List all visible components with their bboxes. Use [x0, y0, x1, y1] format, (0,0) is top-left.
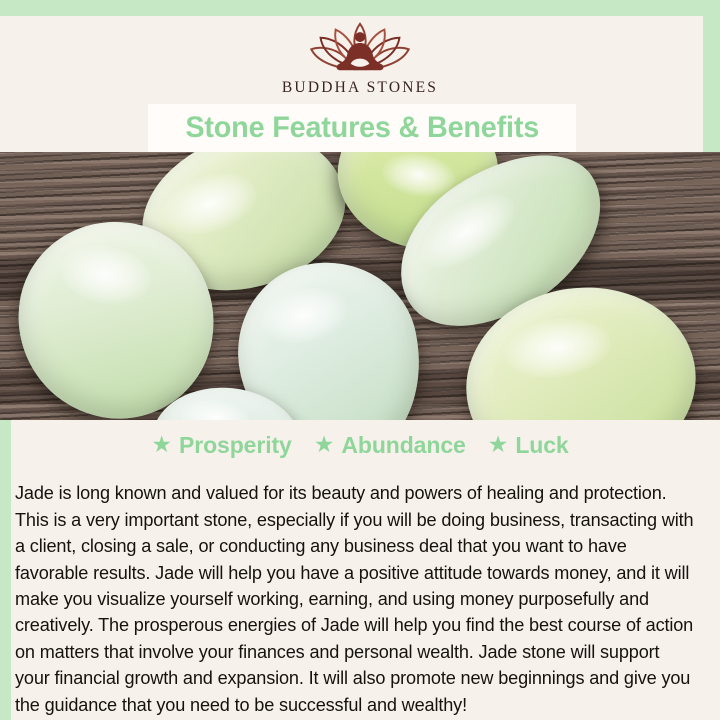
benefits-row: ★ Prosperity ★ Abundance ★ Luck [0, 428, 720, 462]
benefit-label: Prosperity [179, 432, 292, 459]
top-green-border [0, 0, 720, 16]
star-icon: ★ [314, 433, 335, 456]
benefit-label: Abundance [341, 432, 465, 459]
benefit-item-abundance: ★ Abundance [314, 432, 466, 459]
title-band: Stone Features & Benefits [148, 104, 576, 152]
brand-header: BUDDHA STONES [0, 16, 720, 106]
stone-description: Jade is long known and valued for its be… [15, 480, 695, 718]
star-icon: ★ [151, 433, 172, 456]
jade-stones-photo: Jade [0, 152, 720, 420]
benefit-item-luck: ★ Luck [488, 432, 569, 459]
benefit-item-prosperity: ★ Prosperity [151, 432, 291, 459]
lotus-meditation-figure-icon [300, 18, 420, 76]
star-icon: ★ [488, 433, 509, 456]
benefit-label: Luck [515, 432, 568, 459]
page-title: Stone Features & Benefits [185, 111, 539, 145]
brand-wordmark: BUDDHA STONES [282, 79, 438, 97]
stone-features-infographic: BUDDHA STONES Stone Features & Benefits [0, 0, 720, 720]
